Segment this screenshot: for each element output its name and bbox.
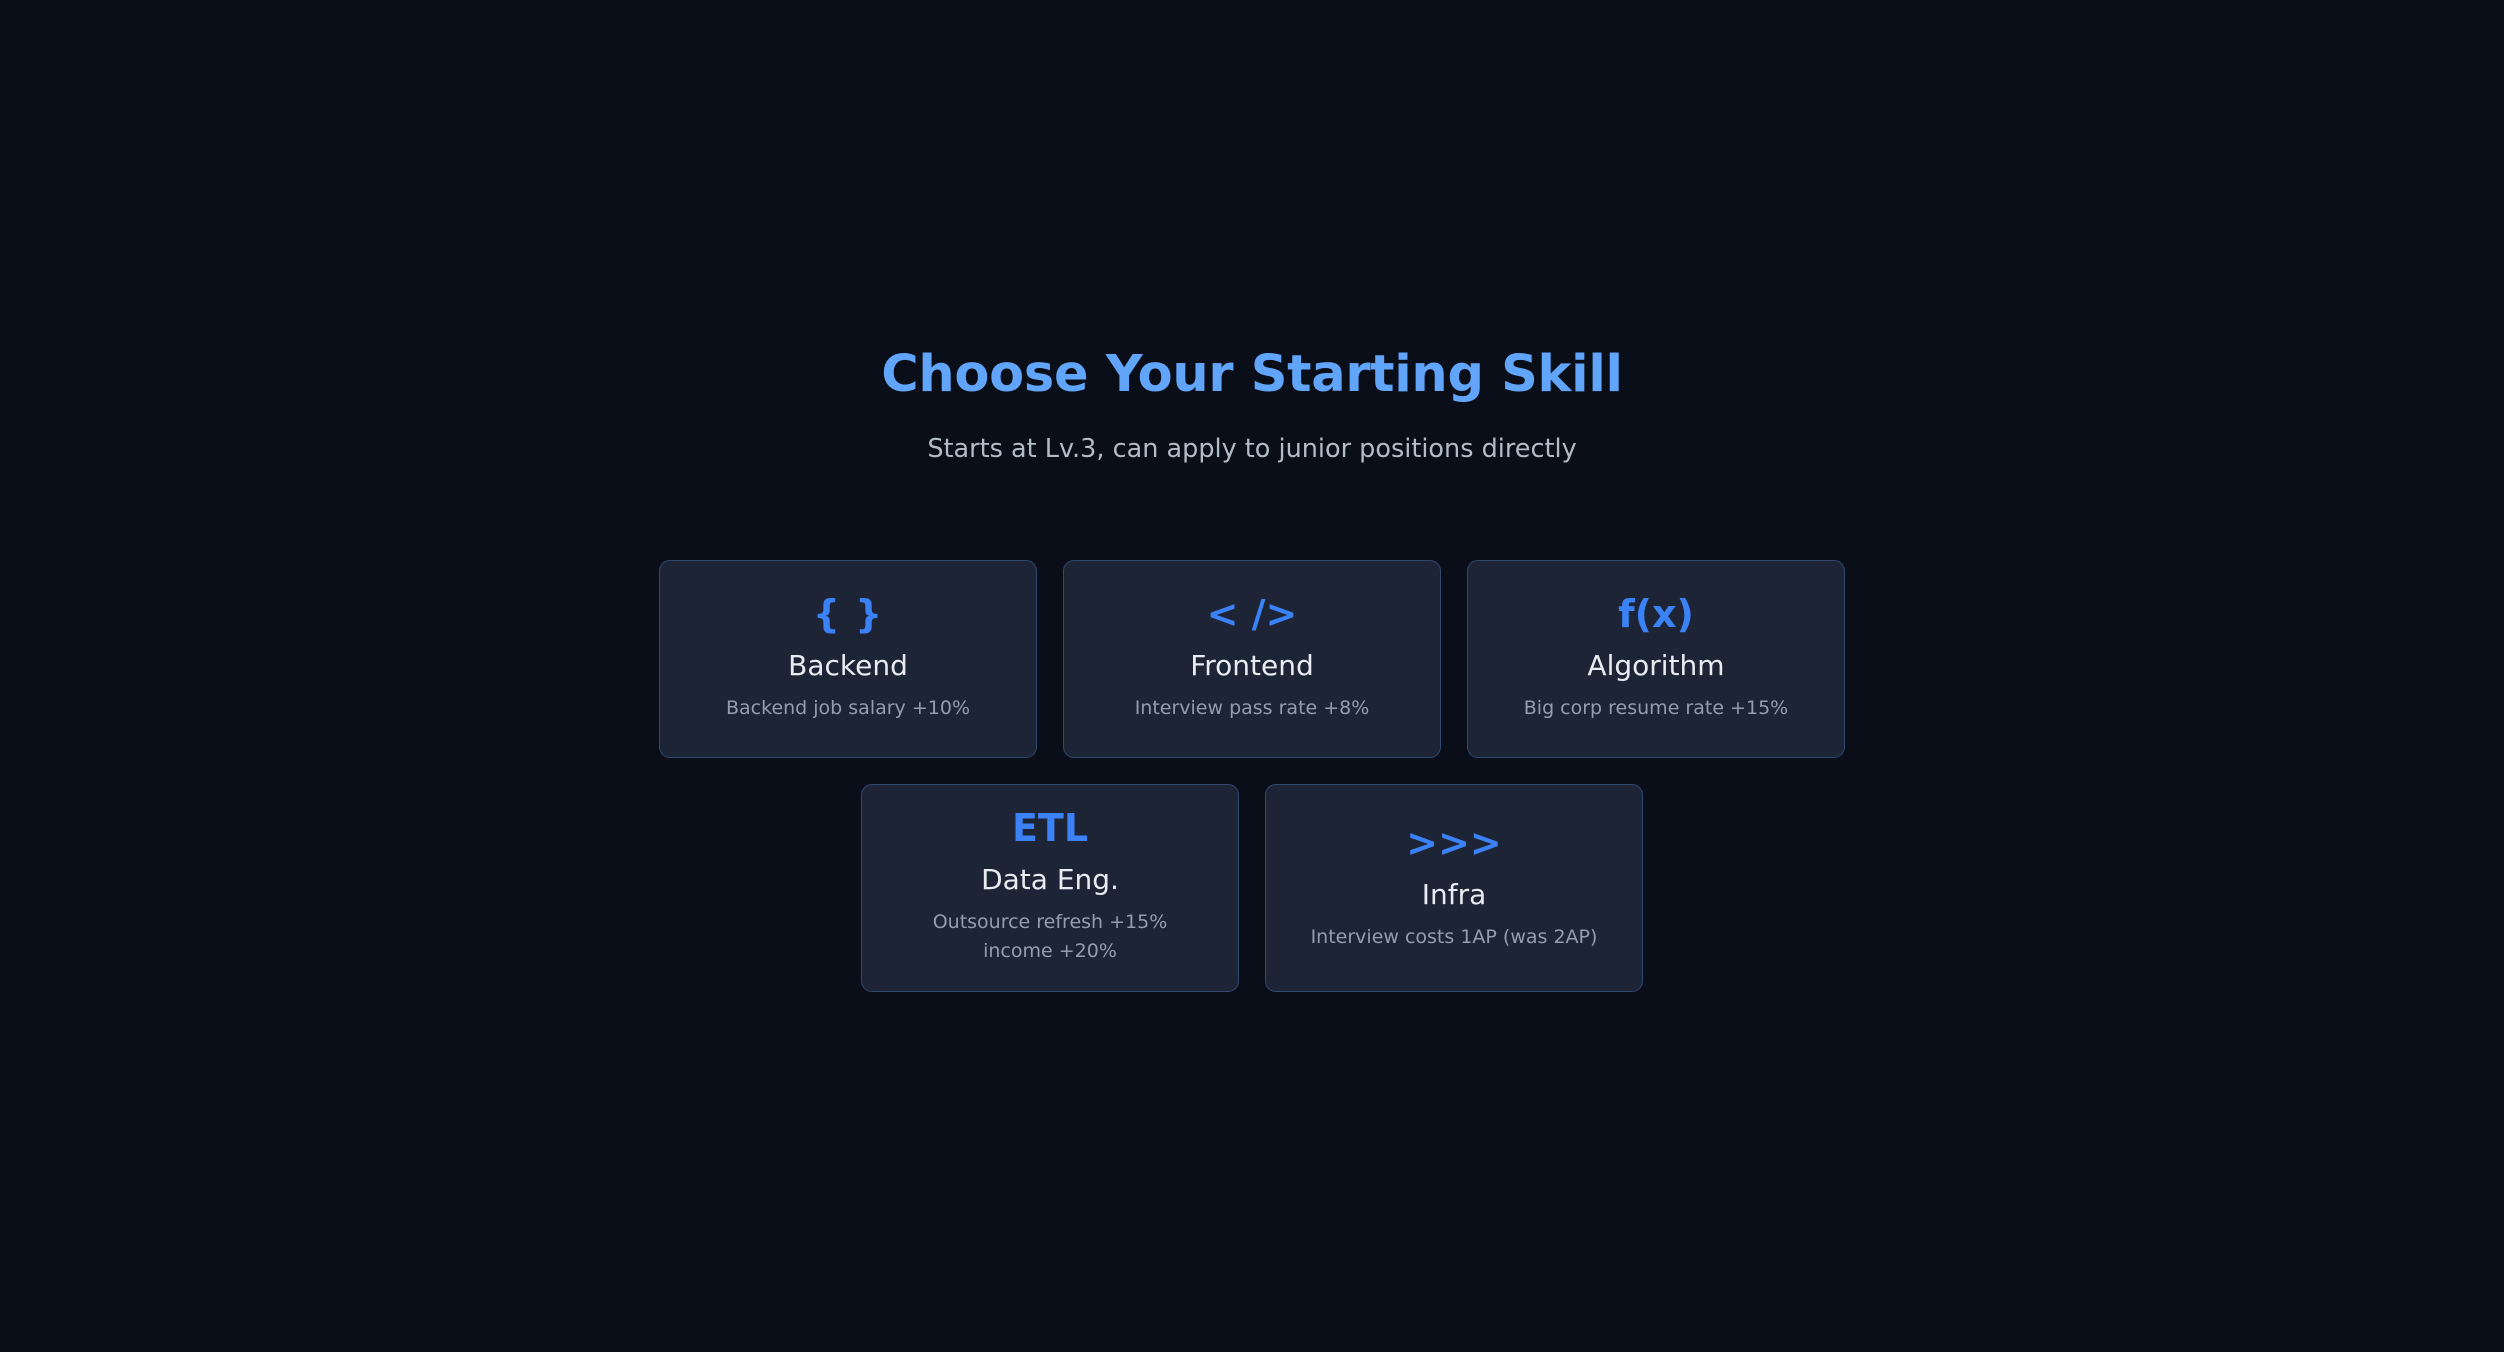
braces-icon: { }	[813, 595, 883, 635]
skill-card-frontend[interactable]: < /> Frontend Interview pass rate +8%	[1063, 560, 1441, 758]
skill-desc-data-eng: Outsource refresh +15% income +20%	[933, 908, 1168, 967]
skill-card-row-1: { } Backend Backend job salary +10% < />…	[0, 560, 2504, 758]
skill-name-frontend: Frontend	[1190, 651, 1314, 682]
skill-desc-line: income +20%	[933, 937, 1168, 966]
page-title: Choose Your Starting Skill	[0, 348, 2504, 402]
skill-card-backend[interactable]: { } Backend Backend job salary +10%	[659, 560, 1037, 758]
skill-desc-line: Outsource refresh +15%	[933, 908, 1168, 937]
skill-selection-screen: Choose Your Starting Skill Starts at Lv.…	[0, 0, 2504, 1352]
skill-desc-line: Big corp resume rate +15%	[1524, 694, 1788, 723]
function-icon: f(x)	[1618, 595, 1694, 635]
skill-name-backend: Backend	[788, 651, 908, 682]
code-tag-icon: < />	[1207, 595, 1298, 635]
skill-name-infra: Infra	[1422, 880, 1487, 911]
skill-card-algorithm[interactable]: f(x) Algorithm Big corp resume rate +15%	[1467, 560, 1845, 758]
chevrons-right-icon: >>>	[1406, 824, 1502, 864]
skill-desc-line: Backend job salary +10%	[726, 694, 970, 723]
header-block: Choose Your Starting Skill Starts at Lv.…	[0, 348, 2504, 465]
etl-icon: ETL	[1012, 809, 1088, 849]
skill-card-grid: { } Backend Backend job salary +10% < />…	[0, 560, 2504, 992]
skill-name-algorithm: Algorithm	[1587, 651, 1724, 682]
skill-desc-frontend: Interview pass rate +8%	[1135, 694, 1370, 723]
skill-desc-algorithm: Big corp resume rate +15%	[1524, 694, 1788, 723]
skill-card-infra[interactable]: >>> Infra Interview costs 1AP (was 2AP)	[1265, 784, 1643, 992]
skill-desc-line: Interview pass rate +8%	[1135, 694, 1370, 723]
page-subtitle: Starts at Lv.3, can apply to junior posi…	[0, 434, 2504, 465]
skill-desc-infra: Interview costs 1AP (was 2AP)	[1311, 923, 1598, 952]
skill-card-row-2: ETL Data Eng. Outsource refresh +15% inc…	[0, 784, 2504, 992]
skill-name-data-eng: Data Eng.	[981, 865, 1119, 896]
skill-desc-backend: Backend job salary +10%	[726, 694, 970, 723]
skill-desc-line: Interview costs 1AP (was 2AP)	[1311, 923, 1598, 952]
skill-card-data-eng[interactable]: ETL Data Eng. Outsource refresh +15% inc…	[861, 784, 1239, 992]
